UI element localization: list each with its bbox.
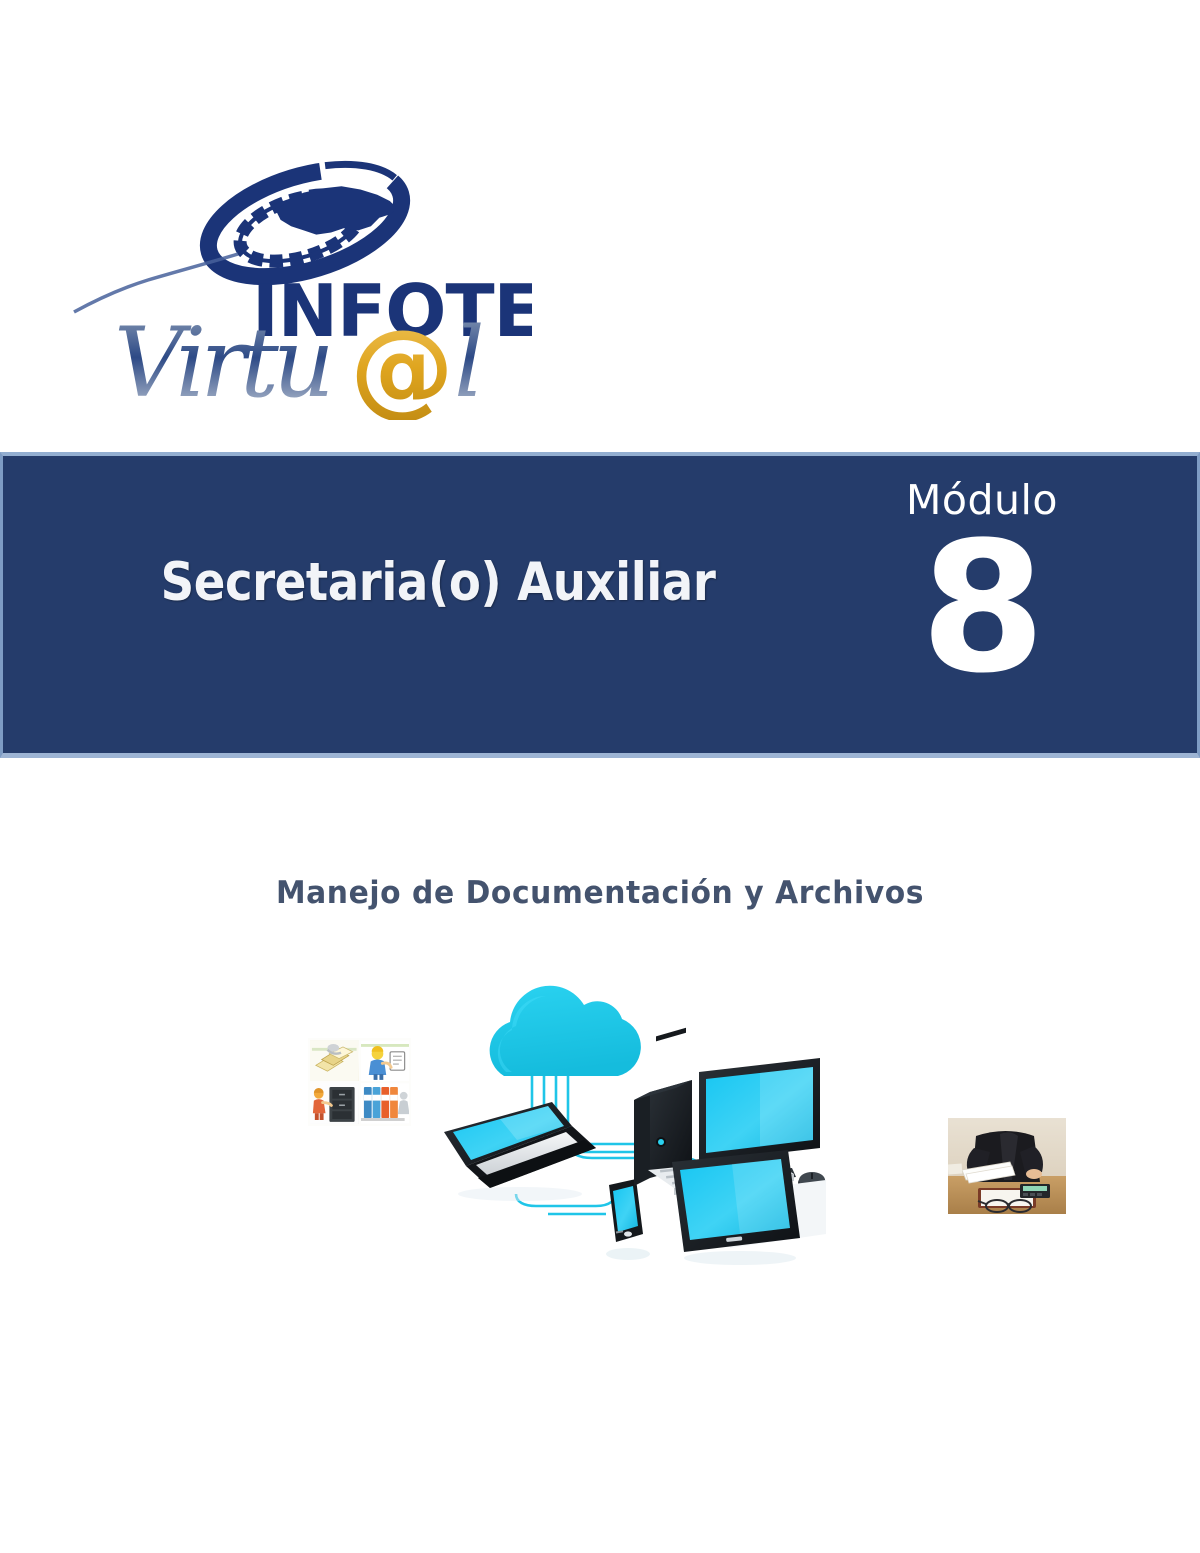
- collage-cell-person-with-clipboard: [361, 1040, 410, 1081]
- cloud-icon: [490, 986, 641, 1076]
- person-at-filing-cabinet-icon: [310, 1083, 359, 1124]
- logo-tail-curve: [74, 254, 238, 312]
- module-number: 8: [882, 523, 1082, 694]
- subtitle: Manejo de Documentación y Archivos: [24, 875, 1176, 911]
- document-archive-clipart-collage: [308, 1038, 411, 1126]
- svg-text:@: @: [350, 307, 454, 420]
- office-photo-graphic: [948, 1118, 1066, 1214]
- person-with-clipboard-icon: [361, 1040, 410, 1081]
- office-document-handover-photo: [948, 1118, 1066, 1214]
- smartphone-icon: [606, 1179, 650, 1260]
- svg-text:Virtu: Virtu: [114, 307, 329, 419]
- collage-cell-hands-with-folders: [310, 1040, 359, 1081]
- collage-cell-person-at-filing-cabinet: [310, 1083, 359, 1124]
- laptop-icon: [444, 1102, 596, 1188]
- hands-with-folders-icon: [310, 1040, 359, 1081]
- collage-cell-binders-on-shelf: [361, 1083, 410, 1124]
- illustration-area: [0, 980, 1200, 1300]
- infotep-virtual-logo: INFOTEP Virtu @ l: [62, 158, 532, 420]
- tablet-icon: [672, 1150, 800, 1265]
- page-title: Secretaria(o) Auxiliar: [55, 552, 821, 613]
- module-title-banner: Secretaria(o) Auxiliar Módulo 8: [0, 452, 1200, 758]
- logo-graphic: INFOTEP Virtu @ l: [62, 158, 532, 420]
- virtual-script: Virtu @ l: [114, 307, 485, 420]
- svg-text:l: l: [454, 307, 485, 419]
- cloud-computing-devices-illustration: [420, 980, 870, 1280]
- module-badge: Módulo 8: [882, 480, 1082, 694]
- binders-on-shelf-icon: [361, 1083, 410, 1124]
- laptop-reflection: [458, 1187, 582, 1201]
